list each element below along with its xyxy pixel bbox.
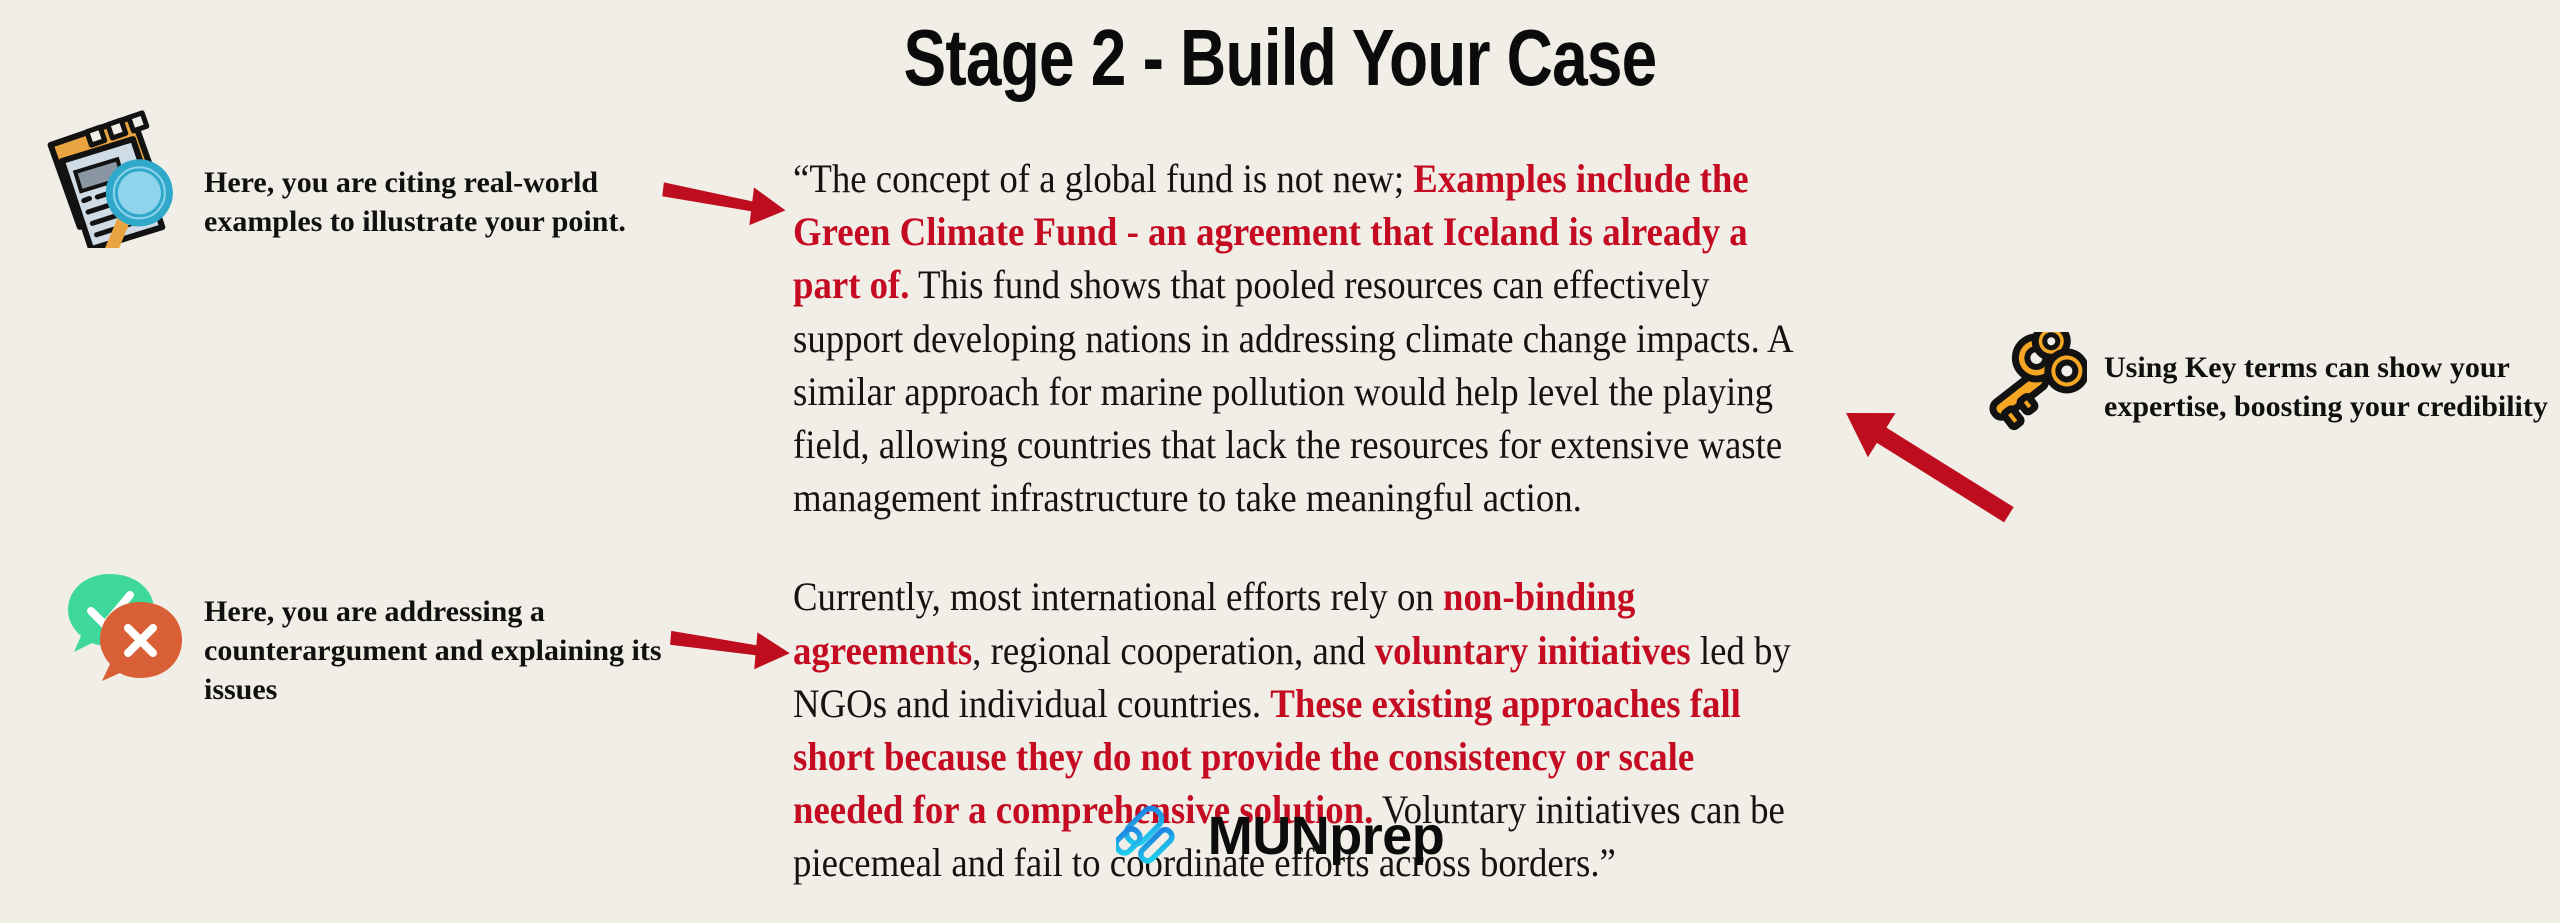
check-cross-speech-bubbles-icon — [64, 570, 184, 687]
annotation-right-text: Using Key terms can show your expertise,… — [2104, 348, 2554, 426]
gavel-icon — [1116, 800, 1190, 871]
p1-text-1: “The concept of a global fund is not new… — [793, 156, 1413, 201]
arrow-bottom-left-icon — [668, 620, 793, 681]
arrow-top-left-icon — [660, 172, 790, 237]
slide-canvas: Stage 2 - Build Your Case — [0, 0, 2560, 923]
annotation-bottom-left-text: Here, you are addressing a counterargume… — [204, 592, 684, 709]
documents-magnifier-icon — [36, 108, 186, 253]
quote-body: “The concept of a global fund is not new… — [793, 152, 1898, 889]
annotation-top-left-text: Here, you are citing real-world examples… — [204, 163, 674, 241]
p2-text-1: Currently, most international efforts re… — [793, 574, 1443, 619]
page-title: Stage 2 - Build Your Case — [256, 12, 2304, 104]
quote-paragraph-1: “The concept of a global fund is not new… — [793, 152, 1810, 524]
p2-highlight-2: voluntary initiatives — [1375, 628, 1691, 673]
p2-text-2: , regional cooperation, and — [972, 628, 1375, 673]
brand-name: MUNprep — [1208, 809, 1445, 863]
p1-text-2: This fund shows that pooled resources ca… — [793, 262, 1792, 520]
brand-logo: MUNprep — [0, 800, 2560, 871]
arrow-right-diagonal-icon — [1828, 398, 2028, 533]
